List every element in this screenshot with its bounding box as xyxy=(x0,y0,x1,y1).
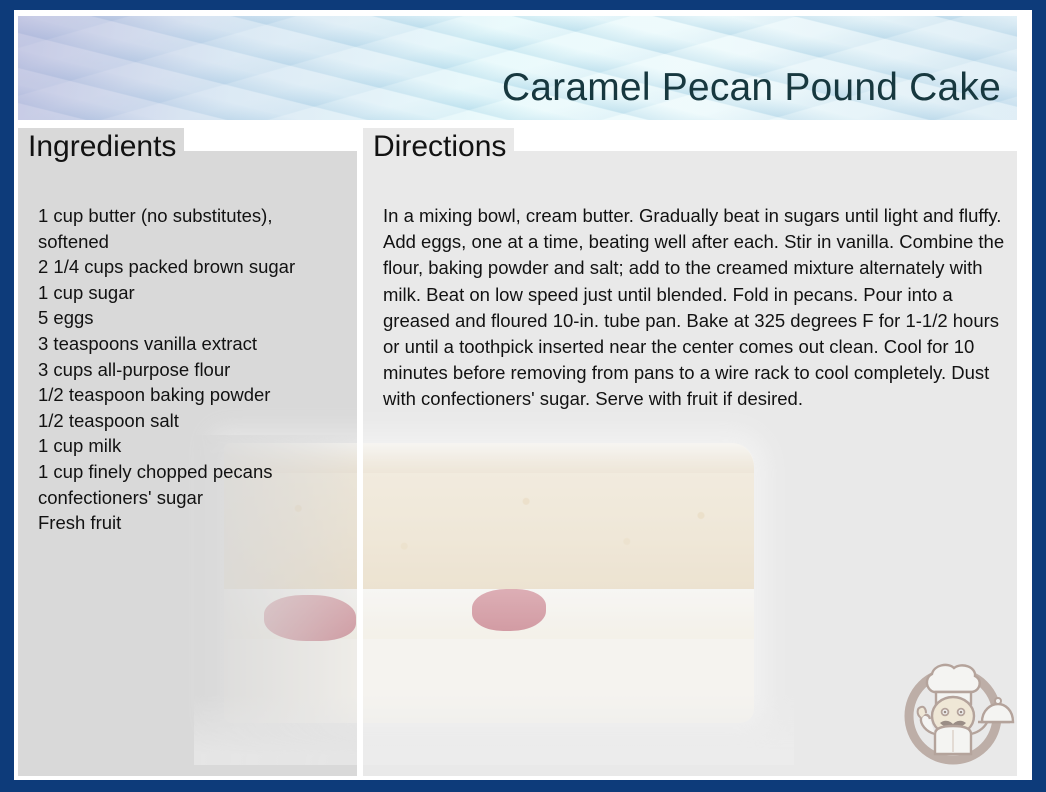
panel-divider xyxy=(357,151,363,776)
ingredient-item: 1 cup finely chopped pecans xyxy=(38,459,348,485)
ingredient-item: 3 cups all-purpose flour xyxy=(38,357,348,383)
tab-ingredients[interactable]: Ingredients xyxy=(18,128,184,166)
ingredient-item: confectioners' sugar xyxy=(38,485,348,511)
ingredients-list: 1 cup butter (no substitutes), softened2… xyxy=(38,203,348,536)
ingredient-item: 1/2 teaspoon baking powder xyxy=(38,382,348,408)
recipe-card-page: Caramel Pecan Pound Cake Ingredients Dir… xyxy=(14,10,1032,780)
recipe-card-frame: Caramel Pecan Pound Cake Ingredients Dir… xyxy=(0,0,1046,792)
tab-ingredients-label: Ingredients xyxy=(28,130,176,164)
ingredient-item: 1 cup butter (no substitutes), softened xyxy=(38,203,348,254)
ingredient-item: 2 1/4 cups packed brown sugar xyxy=(38,254,348,280)
ingredient-item: 3 teaspoons vanilla extract xyxy=(38,331,348,357)
ingredient-item: Fresh fruit xyxy=(38,510,348,536)
ingredient-item: 1 cup sugar xyxy=(38,280,348,306)
ingredient-item: 1/2 teaspoon salt xyxy=(38,408,348,434)
ingredient-item: 1 cup milk xyxy=(38,433,348,459)
tab-directions-label: Directions xyxy=(373,130,506,164)
chef-mascot-logo xyxy=(890,646,1016,772)
header-banner: Caramel Pecan Pound Cake xyxy=(18,16,1017,120)
ingredient-item: 5 eggs xyxy=(38,305,348,331)
recipe-title: Caramel Pecan Pound Cake xyxy=(502,66,1001,110)
directions-text: In a mixing bowl, cream butter. Graduall… xyxy=(383,203,1018,413)
tab-directions[interactable]: Directions xyxy=(363,128,514,166)
